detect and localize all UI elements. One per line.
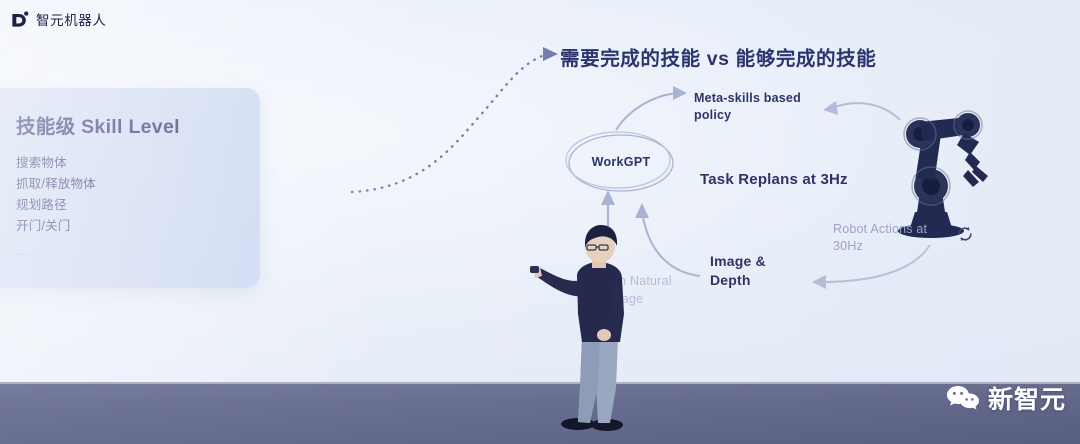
label-robot-actions: Robot Actions at 30Hz (833, 221, 949, 255)
brand-logo: 智元机器人 (10, 9, 107, 29)
zhiyuan-d-logo-icon (10, 10, 29, 29)
slide-photo-scene: 技能级 Skill Level 搜索物体 抓取/释放物体 规划路径 开门/关门 … (0, 0, 1080, 444)
refresh-loop-icon (955, 224, 975, 244)
dotted-curve-arrow-icon (352, 47, 558, 192)
page-title: 需要完成的技能 vs 能够完成的技能 (560, 42, 876, 71)
wechat-bubbles-icon (946, 384, 980, 412)
watermark-text: 新智元 (988, 380, 1066, 416)
presenter-figure-icon (530, 218, 660, 444)
robot-arm-icon (884, 100, 992, 240)
label-task-replans: Task Replans at 3Hz (700, 171, 848, 188)
label-workgpt: WorkGPT (575, 155, 667, 169)
arc-to-meta-skills (616, 86, 687, 130)
label-meta-skills: Meta-skills based policy (694, 90, 814, 124)
label-image-depth: Image & Depth (710, 252, 800, 290)
channel-watermark: 新智元 (946, 380, 1066, 416)
brand-name: 智元机器人 (36, 9, 107, 29)
